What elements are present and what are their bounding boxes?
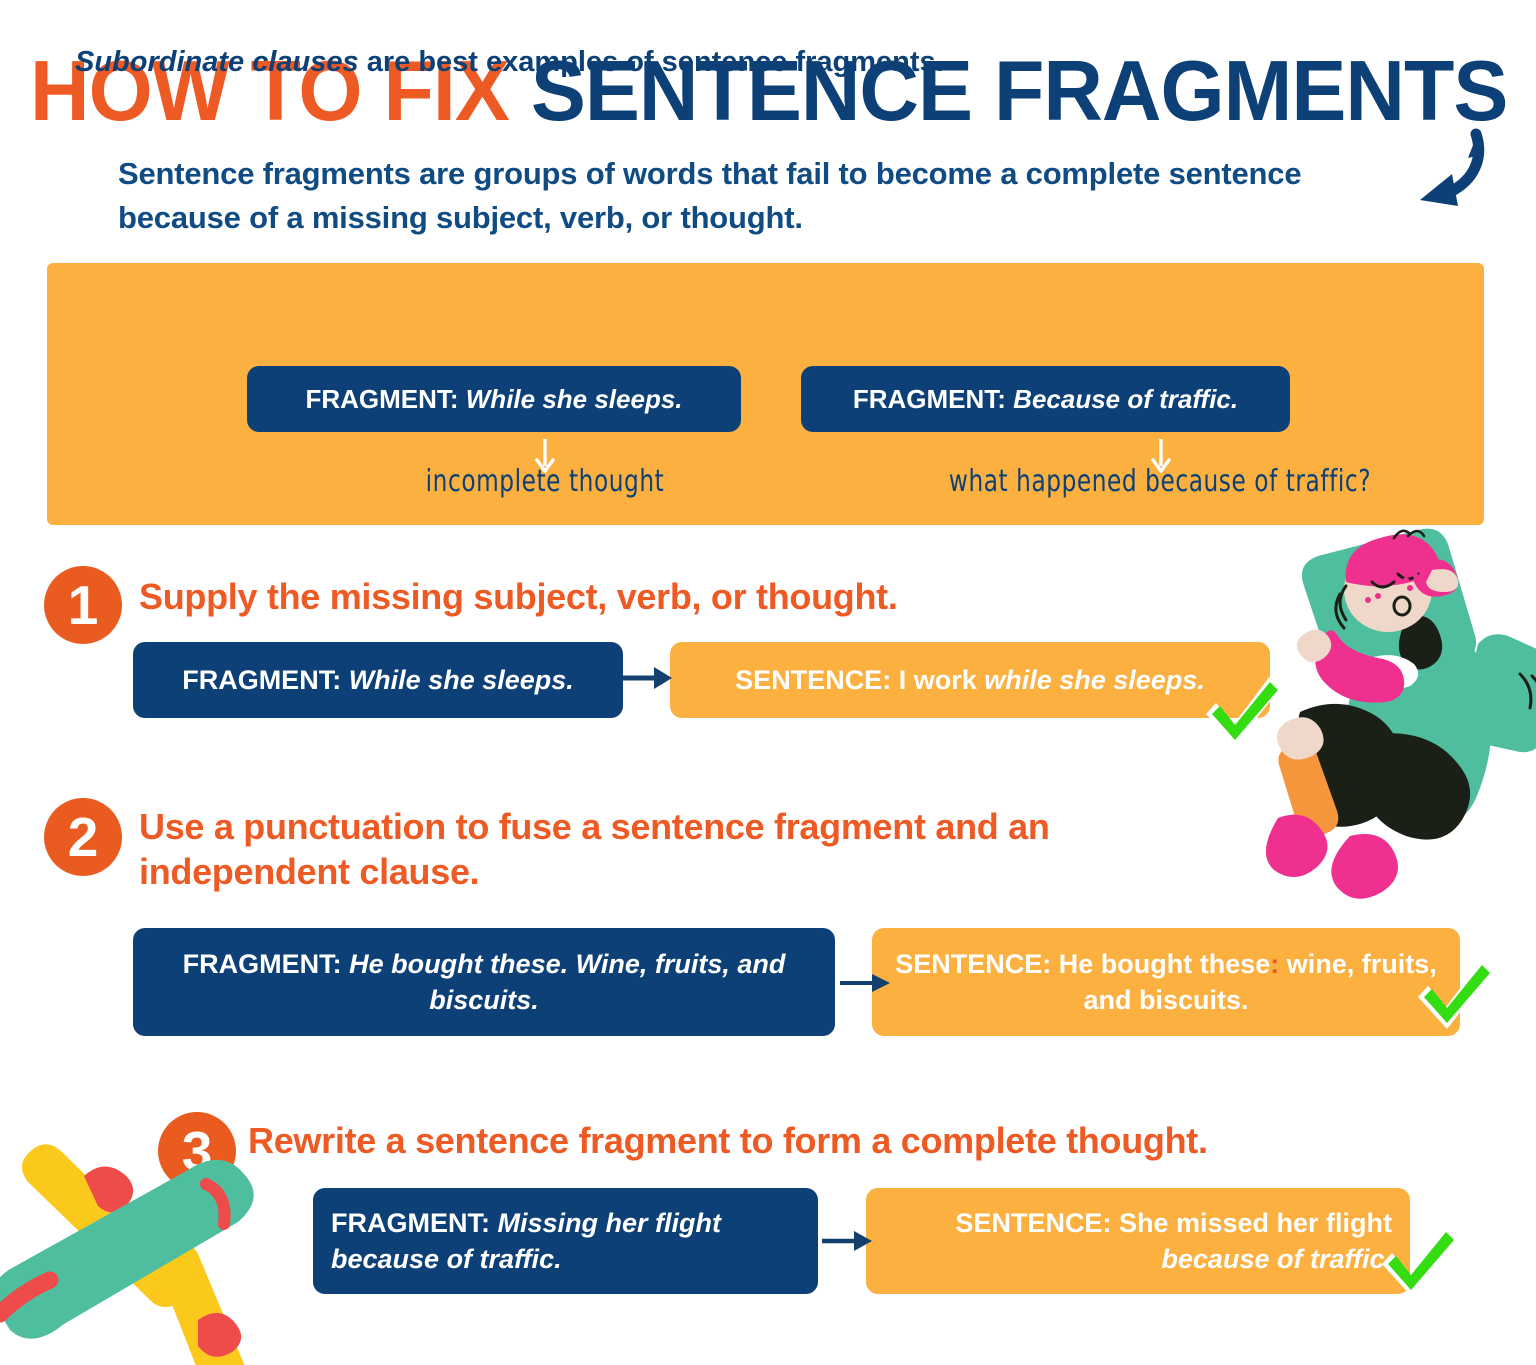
panel-heading-rest: are best examples of sentence fragments. — [359, 46, 944, 78]
step-heading-2: Use a punctuation to fuse a sentence fra… — [139, 804, 1239, 894]
step-2-sentence-label: SENTENCE: — [895, 949, 1051, 979]
panel-heading: Subordinate clauses are best examples of… — [75, 44, 1355, 80]
step-1-fragment-box: FRAGMENT: While she sleeps. — [133, 642, 623, 718]
infographic-canvas: HOW TO FIX SENTENCE FRAGMENTS Sentence f… — [0, 0, 1536, 1365]
step-2-fragment-box: FRAGMENT: He bought these. Wine, fruits,… — [133, 928, 835, 1036]
panel-annotation-1: incomplete thought — [396, 463, 694, 498]
panel-fragment-text-2: Because of traffic. — [1006, 384, 1238, 414]
step-2-sentence-box: SENTENCE: He bought these: wine, fruits,… — [872, 928, 1460, 1036]
step-number-3: 3 — [158, 1112, 236, 1190]
panel-fragment-text-1: While she sleeps. — [459, 384, 683, 414]
step-3-fragment-box: FRAGMENT: Missing her flight because of … — [313, 1188, 818, 1294]
step-1-sentence-plain: I work — [891, 665, 984, 695]
step-2-fragment-text: He bought these. Wine, fruits, and biscu… — [342, 949, 786, 1015]
sleeping-girl-illustration — [1242, 524, 1536, 924]
step-3-sentence-label: SENTENCE: — [955, 1208, 1111, 1238]
step-1-sentence-italic: while she sleeps. — [984, 665, 1205, 695]
step-number-2: 2 — [44, 798, 122, 876]
arrow-right-icon — [838, 966, 890, 1000]
panel-annotation-2: what happened because of traffic? — [900, 463, 1421, 498]
curved-arrow-down-left-icon — [1398, 128, 1518, 218]
panel-fragment-chip-1: FRAGMENT: While she sleeps. — [247, 366, 741, 432]
check-mark-icon — [1200, 672, 1286, 758]
step-2-sentence-colon: : — [1270, 949, 1279, 979]
check-mark-icon — [1412, 955, 1498, 1041]
step-number-1: 1 — [44, 566, 122, 644]
step-1-fragment-text: While she sleeps. — [341, 665, 574, 695]
step-heading-1: Supply the missing subject, verb, or tho… — [139, 574, 1219, 619]
step-3-sentence-italic: because of traffic. — [1161, 1244, 1392, 1274]
step-heading-3: Rewrite a sentence fragment to form a co… — [248, 1118, 1508, 1163]
step-2-sentence-plain: He bought these — [1051, 949, 1270, 979]
page-subtitle: Sentence fragments are groups of words t… — [118, 152, 1418, 240]
step-1-sentence-label: SENTENCE: — [735, 665, 891, 695]
step-3-fragment-label: FRAGMENT: — [331, 1208, 490, 1238]
step-3-sentence-box: SENTENCE: She missed her flight because … — [866, 1188, 1410, 1294]
step-3-sentence-plain: She missed her flight — [1111, 1208, 1392, 1238]
check-mark-icon — [1376, 1222, 1462, 1308]
panel-heading-italic: Subordinate clauses — [75, 46, 359, 78]
step-1-fragment-label: FRAGMENT: — [182, 665, 341, 695]
panel-fragment-label-1: FRAGMENT: — [305, 384, 458, 414]
arrow-right-icon — [820, 1224, 872, 1258]
step-2-fragment-label: FRAGMENT: — [183, 949, 342, 979]
panel-fragment-label-2: FRAGMENT: — [853, 384, 1006, 414]
step-1-sentence-box: SENTENCE: I work while she sleeps. — [670, 642, 1270, 718]
panel-fragment-chip-2: FRAGMENT: Because of traffic. — [801, 366, 1290, 432]
arrow-right-icon — [620, 661, 672, 695]
